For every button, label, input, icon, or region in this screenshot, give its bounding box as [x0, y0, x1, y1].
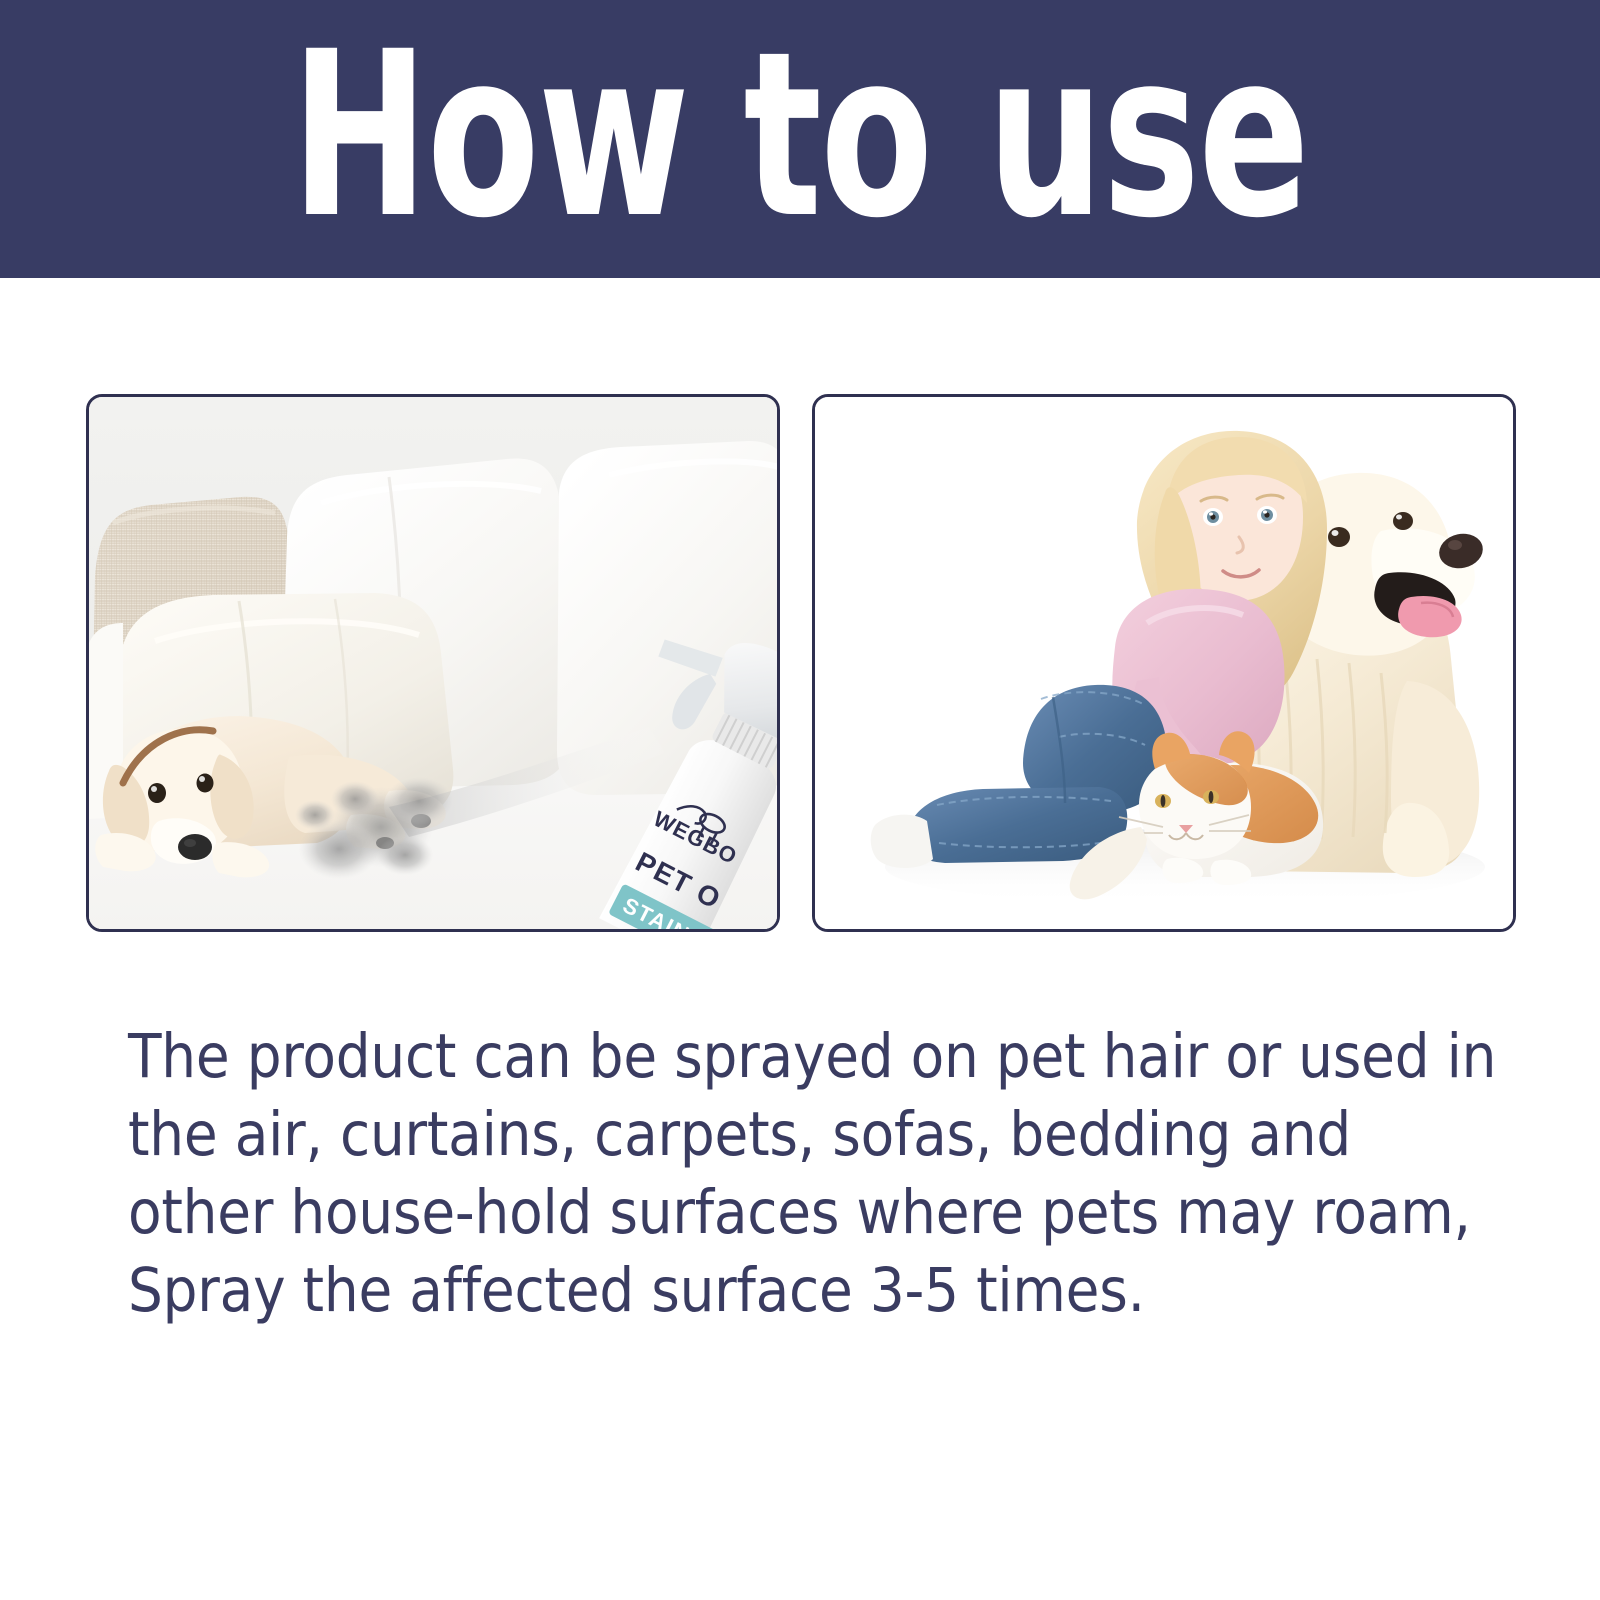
page-title: How to use: [292, 42, 1309, 229]
instructions-text: The product can be sprayed on pet hair o…: [128, 1018, 1508, 1330]
instructions-paragraph: The product can be sprayed on pet hair o…: [128, 1018, 1508, 1330]
spray-demo-photo: WEGBO PET O STAIN: [86, 394, 780, 932]
family-pets-photo: [812, 394, 1516, 932]
photo-panel-row: WEGBO PET O STAIN: [0, 278, 1600, 978]
header-band: How to use: [0, 0, 1600, 278]
family-pets-illustration: [815, 397, 1513, 929]
spray-demo-illustration: WEGBO PET O STAIN: [89, 397, 777, 929]
